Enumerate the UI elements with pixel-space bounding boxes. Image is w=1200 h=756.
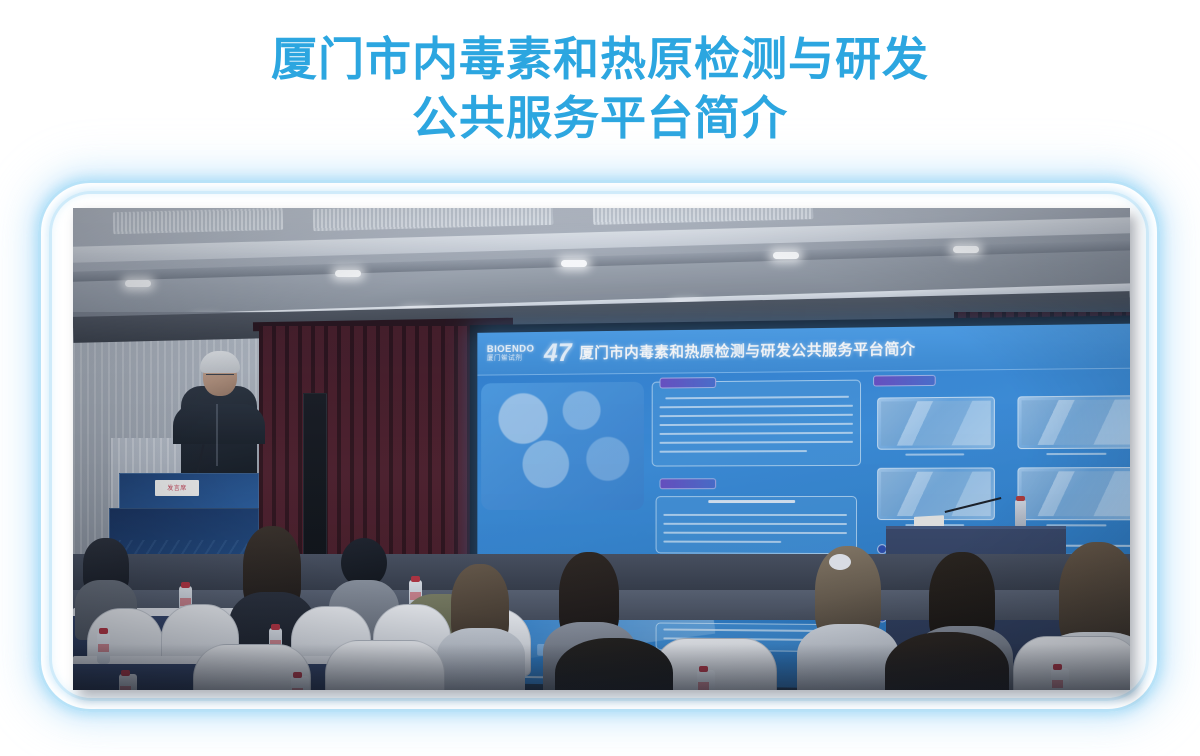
slide-thumbnail-2 (1017, 395, 1130, 449)
slide-card-sub-1 (656, 496, 857, 554)
brand-name-cn: 厦门鲎试剂 (487, 355, 535, 363)
slide-card-tech-label (659, 478, 716, 489)
page-root: 厦门市内毒素和热原检测与研发 公共服务平台简介 (0, 0, 1200, 756)
head-table-water-bottle (1015, 500, 1026, 528)
presenter-shoulders (173, 404, 265, 444)
slide-thumbnail-caption-2 (1046, 453, 1106, 455)
ceiling-downlight-2 (335, 270, 361, 277)
text-line (663, 541, 781, 543)
podium-name-sign-text: 发言席 (155, 483, 199, 492)
hair-clip (829, 554, 851, 570)
slide-thumbnail-3 (877, 467, 995, 520)
page-title-line-2: 公共服务平台简介 (0, 89, 1200, 148)
slide-thumbnail-4 (1017, 467, 1130, 520)
ceiling-downlight-5 (953, 246, 979, 253)
slide-header: BIOENDO 厦门鲎试剂 47 厦门市内毒素和热原检测与研发公共服务平台简介 (477, 323, 1130, 376)
presenter-hair (200, 351, 240, 373)
slide-title: 厦门市内毒素和热原检测与研发公共服务平台简介 (579, 338, 915, 363)
slide-card-basic-info-label (659, 377, 716, 388)
conference-photo: BIOENDO 厦门鲎试剂 47 厦门市内毒素和热原检测与研发公共服务平台简介 (73, 208, 1130, 690)
page-title-line-1: 厦门市内毒素和热原检测与研发 (0, 30, 1200, 89)
text-line (663, 514, 847, 516)
ceiling-downlight-3 (561, 260, 587, 267)
ceiling-downlight-4 (773, 252, 799, 259)
text-line (663, 532, 847, 534)
text-line (663, 523, 847, 525)
ceiling-vent-1 (113, 208, 284, 234)
slide-card-equipment-label (873, 375, 936, 387)
decorative-cell-image (481, 382, 644, 510)
ceiling-downlight-1 (125, 280, 151, 287)
slide-thumbnail-1 (877, 397, 995, 450)
foreground-shadow (73, 644, 1130, 690)
presenter-jacket-zipper (216, 404, 218, 466)
sub-card-title-1 (708, 500, 795, 503)
presenter-glasses (206, 374, 234, 379)
podium-name-sign: 发言席 (155, 480, 199, 496)
brand-name-en: BIOENDO (487, 344, 535, 355)
page-title: 厦门市内毒素和热原检测与研发 公共服务平台简介 (0, 30, 1200, 148)
slide-thumbnail-caption-1 (905, 453, 964, 455)
anniversary-number: 47 (544, 337, 572, 368)
bioendo-logo: BIOENDO 厦门鲎试剂 (487, 344, 535, 362)
